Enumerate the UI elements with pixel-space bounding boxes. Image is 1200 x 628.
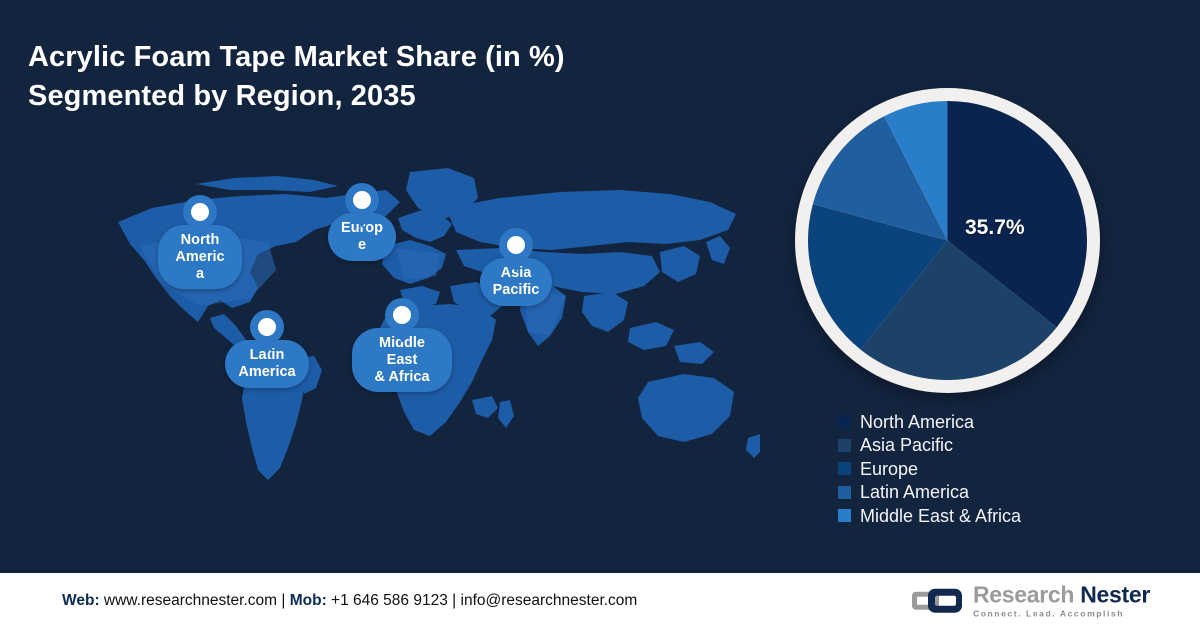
footer-web-label: Web: — [62, 592, 100, 609]
title-line-1: Acrylic Foam Tape Market Share (in %) — [28, 38, 748, 77]
legend-label: North America — [860, 413, 974, 431]
footer-email[interactable]: info@researchnester.com — [461, 592, 638, 609]
location-pin-icon — [250, 310, 284, 356]
footer-web-value[interactable]: www.researchnester.com — [100, 592, 282, 609]
location-pin-icon — [499, 228, 533, 274]
logo-word-research: Research — [973, 581, 1080, 607]
legend-label: Middle East & Africa — [860, 507, 1021, 525]
legend-item-latin-america[interactable]: Latin America — [838, 481, 1021, 505]
legend-label: Europe — [860, 460, 918, 478]
location-pin-icon — [345, 183, 379, 229]
location-pin-icon — [385, 298, 419, 344]
chain-link-icon — [912, 585, 964, 617]
legend-item-north-america[interactable]: North America — [838, 410, 1021, 434]
map-marker-latin-america[interactable]: Latin America — [225, 310, 309, 388]
footer-mob-value: +1 646 586 9123 — [327, 592, 452, 609]
page-title: Acrylic Foam Tape Market Share (in %) Se… — [28, 38, 748, 116]
legend-swatch — [838, 462, 851, 475]
legend-item-asia-pacific[interactable]: Asia Pacific — [838, 434, 1021, 458]
map-marker-middle-east-africa[interactable]: Middle East & Africa — [352, 298, 452, 392]
footer-bar: Web: www.researchnester.com | Mob: +1 64… — [0, 573, 1200, 628]
legend-swatch — [838, 415, 851, 428]
legend-label: Asia Pacific — [860, 436, 953, 454]
location-pin-icon — [183, 195, 217, 241]
legend-swatch — [838, 439, 851, 452]
legend-item-middle-east-africa[interactable]: Middle East & Africa — [838, 504, 1021, 528]
pie-chart: 35.7% — [795, 88, 1100, 393]
logo-tagline: Connect. Lead. Accomplish — [973, 609, 1150, 618]
pie-value-label: 35.7% — [965, 216, 1025, 240]
title-line-2: Segmented by Region, 2035 — [28, 77, 748, 116]
pie-chart-svg — [808, 101, 1087, 380]
legend-item-europe[interactable]: Europe — [838, 457, 1021, 481]
map-marker-asia-pacific[interactable]: Asia Pacific — [480, 228, 552, 306]
logo-title: Research Nester — [973, 583, 1150, 606]
legend-label: Latin America — [860, 483, 969, 501]
research-nester-logo[interactable]: Research Nester Connect. Lead. Accomplis… — [912, 583, 1150, 618]
logo-wordmark: Research Nester Connect. Lead. Accomplis… — [973, 583, 1150, 618]
chart-legend: North America Asia Pacific Europe Latin … — [838, 410, 1021, 528]
legend-swatch — [838, 509, 851, 522]
map-marker-europe[interactable]: Europ e — [328, 183, 396, 261]
footer-contact-line: Web: www.researchnester.com | Mob: +1 64… — [62, 592, 637, 610]
footer-sep-1: | — [281, 592, 289, 609]
pie-slice-group — [808, 101, 1087, 380]
map-marker-north-america[interactable]: North Americ a — [158, 195, 242, 289]
logo-word-nester: Nester — [1080, 581, 1150, 607]
legend-swatch — [838, 486, 851, 499]
footer-mob-label: Mob: — [290, 592, 327, 609]
infographic-canvas: Acrylic Foam Tape Market Share (in %) Se… — [0, 0, 1200, 628]
footer-sep-2: | — [452, 592, 460, 609]
